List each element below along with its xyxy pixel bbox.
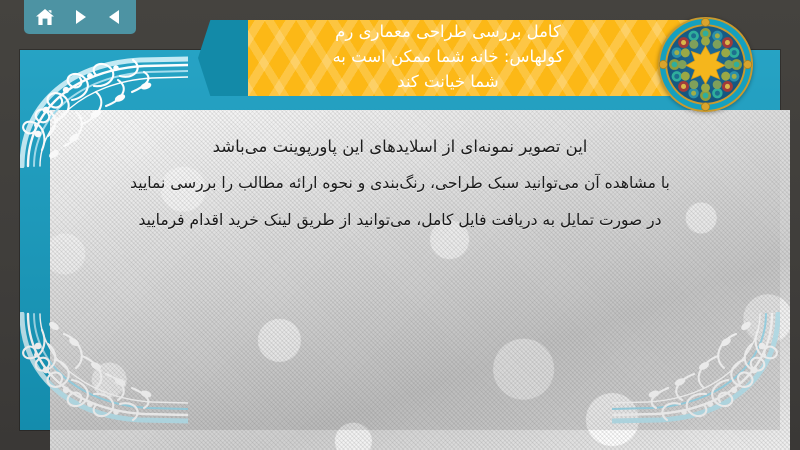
forward-button[interactable] [66, 4, 94, 30]
slide-body-text: این تصویر نمونه‌ای از اسلایدهای این پاور… [30, 128, 770, 239]
body-line-3: در صورت تمایل به دریافت فایل کامل، می‌تو… [30, 202, 770, 239]
slide-title: کامل بررسی طراحی معماری رم کولهاس: خانه … [248, 20, 700, 94]
home-icon [35, 8, 55, 27]
title-line-2: کولهاس: خانه شما ممکن است به [258, 44, 638, 69]
body-line-1: این تصویر نمونه‌ای از اسلایدهای این پاور… [30, 128, 770, 165]
triangle-left-icon [106, 8, 124, 26]
body-line-2: با مشاهده آن می‌توانید سبک طراحی، رنگ‌بن… [30, 165, 770, 202]
home-button[interactable] [31, 4, 59, 30]
back-button[interactable] [101, 4, 129, 30]
triangle-right-icon [71, 8, 89, 26]
title-banner: کامل بررسی طراحی معماری رم کولهاس: خانه … [248, 20, 700, 96]
navigation-bar [24, 0, 136, 34]
title-line-3: شما خیانت کند [258, 69, 638, 94]
title-line-1: کامل بررسی طراحی معماری رم [258, 20, 638, 44]
slide-preview-stage: این تصویر نمونه‌ای از اسلایدهای این پاور… [0, 0, 800, 450]
